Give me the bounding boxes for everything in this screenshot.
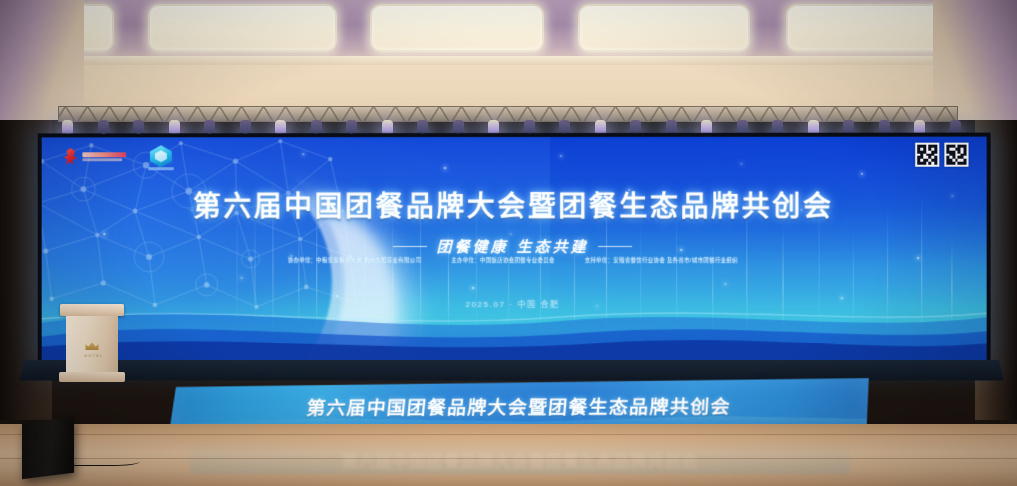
podium-base (59, 372, 125, 382)
screen-title-block: 第六届中国团餐品牌大会暨团餐生态品牌共创会 团餐健康 生态共建 (42, 185, 987, 257)
main-title: 第六届中国团餐品牌大会暨团餐生态品牌共创会 (42, 185, 987, 225)
sparkle-6 (560, 155, 562, 157)
floor-reflection: 第六届中国团餐品牌大会暨团餐生态品牌共创会 (190, 440, 850, 474)
subtitle: 团餐健康 生态共建 (436, 236, 588, 257)
led-screen-surface: 第六届中国团餐品牌大会暨团餐生态品牌共创会 团餐健康 生态共建 协办单位：中粮皇… (42, 137, 987, 362)
organizer-host: 主办单位：中国饭店协会团餐专业委员会 (451, 256, 554, 264)
floor-seam-1 (0, 434, 1017, 435)
logo-cyan-diamond-icon (150, 145, 172, 167)
date-location-text: 2025.07 · 中国 合肥 (42, 299, 987, 310)
stage-banner-text: 第六届中国团餐品牌大会暨团餐生态品牌共创会 (169, 392, 871, 421)
skylight-panel-2 (370, 4, 544, 52)
stage-deck (19, 360, 1003, 381)
floor-cable (70, 455, 140, 466)
speaking-podium: HOTEL (64, 304, 120, 382)
bottom-wave-ribbons (42, 281, 987, 362)
subtitle-dash-right (598, 246, 632, 247)
screen-logo-group (64, 145, 172, 167)
organizer-supporter: 支持单位：安徽省餐饮行业协会 及各省市/城市团餐行业组织 (585, 256, 738, 264)
sparkle-4 (444, 167, 446, 169)
logo-red-star-icon (64, 148, 127, 165)
organizer-line: 协办单位：中粮皇家粮谷大米 杭州九阳豆业有限公司 主办单位：中国饭店协会团餐专业… (42, 256, 987, 264)
sparkle-2 (302, 153, 304, 155)
red-star-mark (64, 148, 79, 165)
cyan-logo-wordmark (148, 167, 174, 170)
stage-speaker (22, 417, 74, 479)
sparkle-14 (241, 277, 243, 279)
sparkle-9 (740, 163, 742, 165)
podium-wordmark: HOTEL (66, 353, 122, 358)
ceiling-lip (0, 56, 1017, 65)
gold-crown-icon (86, 342, 99, 350)
subtitle-dash-left (393, 246, 427, 247)
qr-code-group[interactable] (915, 143, 968, 167)
floor-reflection-text: 第六届中国团餐品牌大会暨团餐生态品牌共创会 (190, 448, 850, 472)
lighting-truss (58, 106, 958, 122)
sparkle-11 (861, 173, 863, 175)
subtitle-row: 团餐健康 生态共建 (42, 236, 987, 257)
podium-top (60, 304, 124, 316)
led-screen-frame: 第六届中国团餐品牌大会暨团餐生态品牌共创会 团餐健康 生态共建 协办单位：中粮皇… (38, 133, 991, 366)
qr-code-right[interactable] (944, 143, 968, 167)
skylight-panel-4 (786, 4, 952, 52)
conference-stage-photo: 第六届中国团餐品牌大会暨团餐生态品牌共创会 团餐健康 生态共建 协办单位：中粮皇… (0, 0, 1017, 486)
qr-code-left[interactable] (915, 143, 939, 167)
organizer-coorganizer: 协办单位：中粮皇家粮谷大米 杭州九阳豆业有限公司 (288, 256, 422, 264)
skylight-panel-1 (148, 4, 337, 52)
red-logo-wordmark (82, 152, 126, 161)
skylight-panel-3 (578, 4, 750, 52)
podium-body: HOTEL (66, 316, 118, 372)
